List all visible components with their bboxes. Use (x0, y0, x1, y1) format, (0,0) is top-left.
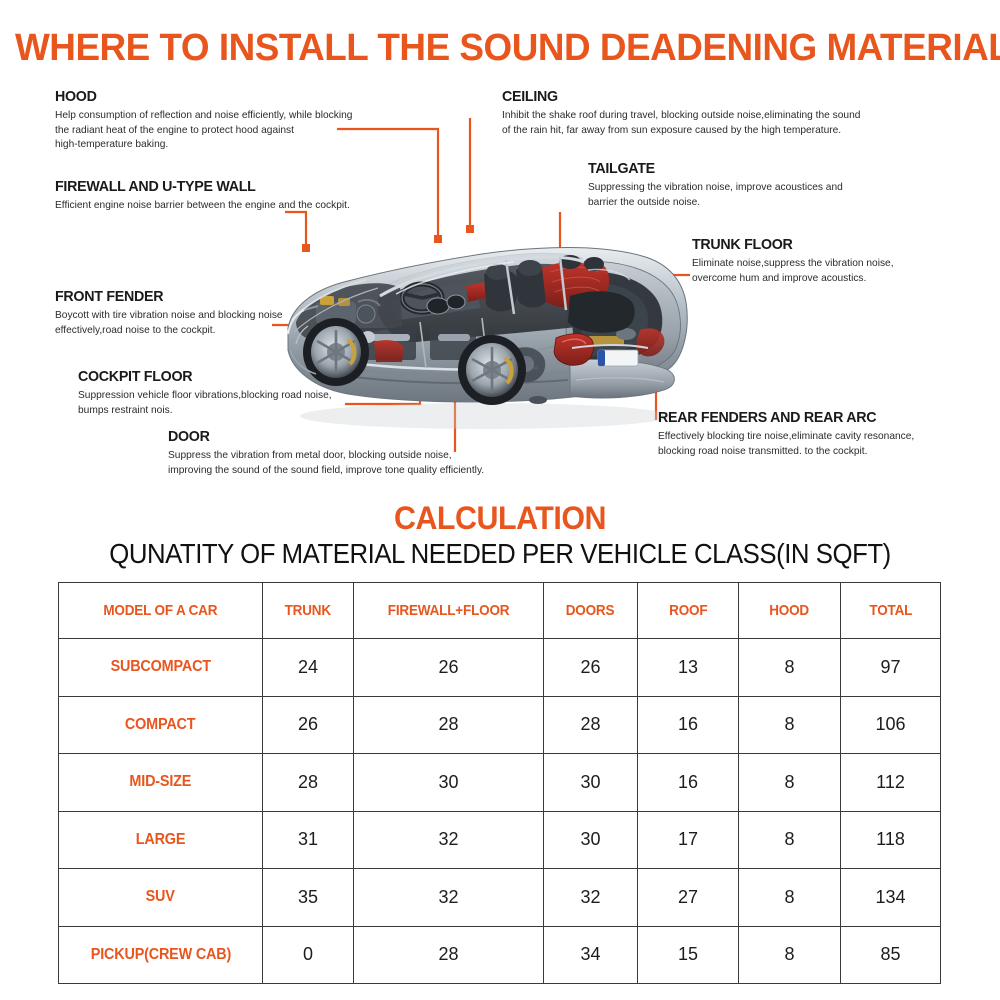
row-label: SUBCOMPACT (110, 658, 210, 676)
cell-trunk: 26 (263, 696, 354, 754)
cell-doors: 30 (544, 754, 638, 812)
col-header-trunk-label: TRUNK (285, 602, 331, 619)
infographic-page: WHERE TO INSTALL THE SOUND DEADENING MAT… (0, 0, 1000, 1000)
cell-value: 8 (784, 657, 794, 678)
col-header-hood-label: HOOD (770, 602, 810, 619)
callout-firewall: FIREWALL AND U-TYPE WALL Efficient engin… (55, 178, 425, 213)
callout-cockpit-floor: COCKPIT FLOOR Suppression vehicle floor … (78, 368, 398, 417)
col-header-model: MODEL OF A CAR (59, 583, 263, 639)
cell-value: 112 (876, 772, 905, 793)
table-row: COMPACT 26 28 28 16 8 106 (59, 696, 941, 754)
calculation-title: CALCULATION (25, 500, 975, 537)
cell-value: 106 (875, 714, 905, 735)
cell-hood: 8 (739, 869, 841, 927)
callout-front-fender-title: FRONT FENDER (55, 288, 340, 305)
cell-value: 8 (784, 772, 794, 793)
row-label: LARGE (136, 831, 186, 849)
row-label: SUV (146, 888, 175, 906)
cell-value: 8 (784, 944, 794, 965)
cell-value: 134 (875, 887, 905, 908)
cell-value: 8 (784, 829, 794, 850)
cell-value: 30 (580, 772, 600, 793)
callout-trunk-floor-title: TRUNK FLOOR (692, 236, 968, 253)
cell-value: 27 (678, 887, 698, 908)
callout-door-title: DOOR (168, 428, 539, 445)
callout-rear-fenders-body: Effectively blocking tire noise,eliminat… (658, 429, 968, 458)
cell-value: 32 (580, 887, 600, 908)
cell-trunk: 28 (263, 754, 354, 812)
cell-value: 13 (678, 657, 698, 678)
calculation-subtitle: QUNATITY OF MATERIAL NEEDED PER VEHICLE … (40, 538, 960, 570)
row-label-cell: COMPACT (59, 696, 263, 754)
callout-tailgate-title: TAILGATE (588, 160, 902, 177)
cell-total: 134 (841, 869, 941, 927)
cell-doors: 34 (544, 926, 638, 984)
material-quantity-table: MODEL OF A CAR TRUNK FIREWALL+FLOOR DOOR… (58, 582, 941, 984)
cell-value: 30 (438, 772, 458, 793)
page-title: WHERE TO INSTALL THE SOUND DEADENING MAT… (15, 27, 985, 70)
table-row: SUV 35 32 32 27 8 134 (59, 869, 941, 927)
col-header-roof-label: ROOF (669, 602, 707, 619)
cell-firewall-floor: 32 (354, 869, 544, 927)
cell-total: 106 (841, 696, 941, 754)
callout-trunk-floor-body: Eliminate noise,suppress the vibration n… (692, 256, 973, 285)
row-label: PICKUP(CREW CAB) (90, 946, 230, 964)
callout-cockpit-floor-body: Suppression vehicle floor vibrations,blo… (78, 388, 388, 417)
cell-firewall-floor: 26 (354, 639, 544, 697)
row-label-cell: SUV (59, 869, 263, 927)
cell-hood: 8 (739, 639, 841, 697)
cell-hood: 8 (739, 696, 841, 754)
callout-door: DOOR Suppress the vibration from metal d… (168, 428, 558, 477)
callout-ceiling-title: CEILING (502, 88, 911, 105)
cell-value: 17 (678, 829, 698, 850)
table-row: SUBCOMPACT 24 26 26 13 8 97 (59, 639, 941, 697)
col-header-doors: DOORS (544, 583, 638, 639)
cell-value: 28 (438, 714, 458, 735)
col-header-hood: HOOD (739, 583, 841, 639)
col-header-firewall-floor: FIREWALL+FLOOR (354, 583, 544, 639)
callout-ceiling: CEILING Inhibit the shake roof during tr… (502, 88, 932, 137)
cell-roof: 27 (638, 869, 739, 927)
col-header-total-label: TOTAL (869, 602, 912, 619)
col-header-doors-label: DOORS (566, 602, 615, 619)
callout-firewall-body: Efficient engine noise barrier between t… (55, 198, 414, 212)
cell-firewall-floor: 32 (354, 811, 544, 869)
callout-cockpit-floor-title: COCKPIT FLOOR (78, 368, 382, 385)
cell-trunk: 0 (263, 926, 354, 984)
cell-firewall-floor: 30 (354, 754, 544, 812)
row-label-cell: SUBCOMPACT (59, 639, 263, 697)
cell-firewall-floor: 28 (354, 926, 544, 984)
callout-front-fender: FRONT FENDER Boycott with tire vibration… (55, 288, 355, 337)
cell-value: 26 (580, 657, 600, 678)
cell-value: 118 (876, 829, 905, 850)
cell-hood: 8 (739, 811, 841, 869)
cell-value: 8 (784, 714, 794, 735)
callout-door-body: Suppress the vibration from metal door, … (168, 448, 546, 477)
cell-firewall-floor: 28 (354, 696, 544, 754)
callout-firewall-title: FIREWALL AND U-TYPE WALL (55, 178, 407, 195)
cell-value: 8 (784, 887, 794, 908)
row-label-cell: LARGE (59, 811, 263, 869)
table-row: LARGE 31 32 30 17 8 118 (59, 811, 941, 869)
cell-value: 31 (298, 829, 318, 850)
cell-roof: 17 (638, 811, 739, 869)
row-label-cell: MID-SIZE (59, 754, 263, 812)
cell-value: 16 (678, 772, 698, 793)
cell-value: 32 (438, 829, 458, 850)
cell-value: 97 (880, 657, 900, 678)
cell-value: 35 (298, 887, 318, 908)
cell-roof: 13 (638, 639, 739, 697)
cell-trunk: 35 (263, 869, 354, 927)
row-label: MID-SIZE (130, 773, 192, 791)
callout-tailgate-body: Suppressing the vibration noise, improve… (588, 180, 908, 209)
cell-value: 26 (298, 714, 318, 735)
row-label: COMPACT (125, 716, 195, 734)
cell-total: 118 (841, 811, 941, 869)
callout-front-fender-body: Boycott with tire vibration noise and bl… (55, 308, 346, 337)
cell-trunk: 31 (263, 811, 354, 869)
cell-hood: 8 (739, 926, 841, 984)
col-header-firewall-floor-label: FIREWALL+FLOOR (388, 602, 510, 619)
callout-trunk-floor: TRUNK FLOOR Eliminate noise,suppress the… (692, 236, 982, 285)
table-header-row: MODEL OF A CAR TRUNK FIREWALL+FLOOR DOOR… (59, 583, 941, 639)
cell-doors: 30 (544, 811, 638, 869)
callout-rear-fenders: REAR FENDERS AND REAR ARC Effectively bl… (658, 409, 978, 458)
callout-hood-title: HOOD (55, 88, 383, 105)
table-row: PICKUP(CREW CAB) 0 28 34 15 8 85 (59, 926, 941, 984)
row-label-cell: PICKUP(CREW CAB) (59, 926, 263, 984)
cell-value: 32 (438, 887, 458, 908)
callout-hood: HOOD Help consumption of reflection and … (55, 88, 400, 152)
cell-value: 28 (580, 714, 600, 735)
cell-roof: 16 (638, 754, 739, 812)
cell-doors: 32 (544, 869, 638, 927)
cell-value: 34 (580, 944, 600, 965)
cell-value: 30 (580, 829, 600, 850)
cell-doors: 28 (544, 696, 638, 754)
cell-trunk: 24 (263, 639, 354, 697)
col-header-roof: ROOF (638, 583, 739, 639)
col-header-trunk: TRUNK (263, 583, 354, 639)
cell-value: 0 (303, 944, 313, 965)
cell-value: 85 (880, 944, 900, 965)
col-header-total: TOTAL (841, 583, 941, 639)
cell-roof: 15 (638, 926, 739, 984)
cell-total: 97 (841, 639, 941, 697)
cell-hood: 8 (739, 754, 841, 812)
cell-value: 26 (438, 657, 458, 678)
callout-tailgate: TAILGATE Suppressing the vibration noise… (588, 160, 918, 209)
cell-value: 24 (298, 657, 318, 678)
cell-value: 28 (298, 772, 318, 793)
callout-hood-body: Help consumption of reflection and noise… (55, 108, 390, 151)
cell-roof: 16 (638, 696, 739, 754)
col-header-model-label: MODEL OF A CAR (104, 602, 218, 619)
callout-ceiling-body: Inhibit the shake roof during travel, bl… (502, 108, 919, 137)
cell-total: 85 (841, 926, 941, 984)
cell-value: 16 (678, 714, 698, 735)
cell-total: 112 (841, 754, 941, 812)
cell-doors: 26 (544, 639, 638, 697)
cell-value: 28 (438, 944, 458, 965)
table-row: MID-SIZE 28 30 30 16 8 112 (59, 754, 941, 812)
callout-rear-fenders-title: REAR FENDERS AND REAR ARC (658, 409, 962, 426)
cell-value: 15 (678, 944, 698, 965)
